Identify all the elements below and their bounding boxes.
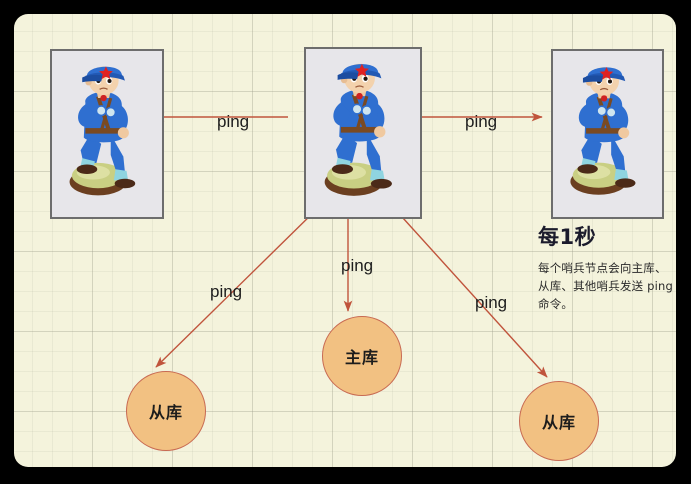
db-node-master[interactable]: 主库: [322, 316, 402, 396]
soldier-sentinel-icon: [553, 51, 662, 217]
edge-label-ping-lower-left: ping: [210, 282, 242, 302]
annotation-block: 每1秒 每个哨兵节点会向主库、从库、其他哨兵发送 ping 命令。: [538, 225, 674, 314]
db-node-replica-right-label: 从库: [542, 409, 576, 433]
edge-label-ping-center-down: ping: [341, 256, 373, 276]
soldier-sentinel-icon: [306, 49, 420, 217]
sentinel-node-center[interactable]: [304, 47, 422, 219]
edge-label-ping-right-top: ping: [465, 112, 497, 132]
db-node-replica-left[interactable]: 从库: [126, 371, 206, 451]
db-node-replica-left-label: 从库: [149, 399, 183, 423]
edge-label-ping-lower-right: ping: [475, 293, 507, 313]
arrow-center-to-replica-right: [393, 207, 547, 377]
sentinel-node-right[interactable]: [551, 49, 664, 219]
db-node-replica-right[interactable]: 从库: [519, 381, 599, 461]
annotation-body: 每个哨兵节点会向主库、从库、其他哨兵发送 ping 命令。: [538, 260, 674, 313]
sentinel-node-left[interactable]: [50, 49, 164, 219]
soldier-sentinel-icon: [52, 51, 162, 217]
diagram-canvas: 主库 从库 从库 ping ping ping ping ping 每1秒 每个…: [14, 14, 676, 467]
db-node-master-label: 主库: [345, 344, 379, 368]
annotation-title: 每1秒: [538, 225, 674, 250]
edge-label-ping-left-top: ping: [217, 112, 249, 132]
